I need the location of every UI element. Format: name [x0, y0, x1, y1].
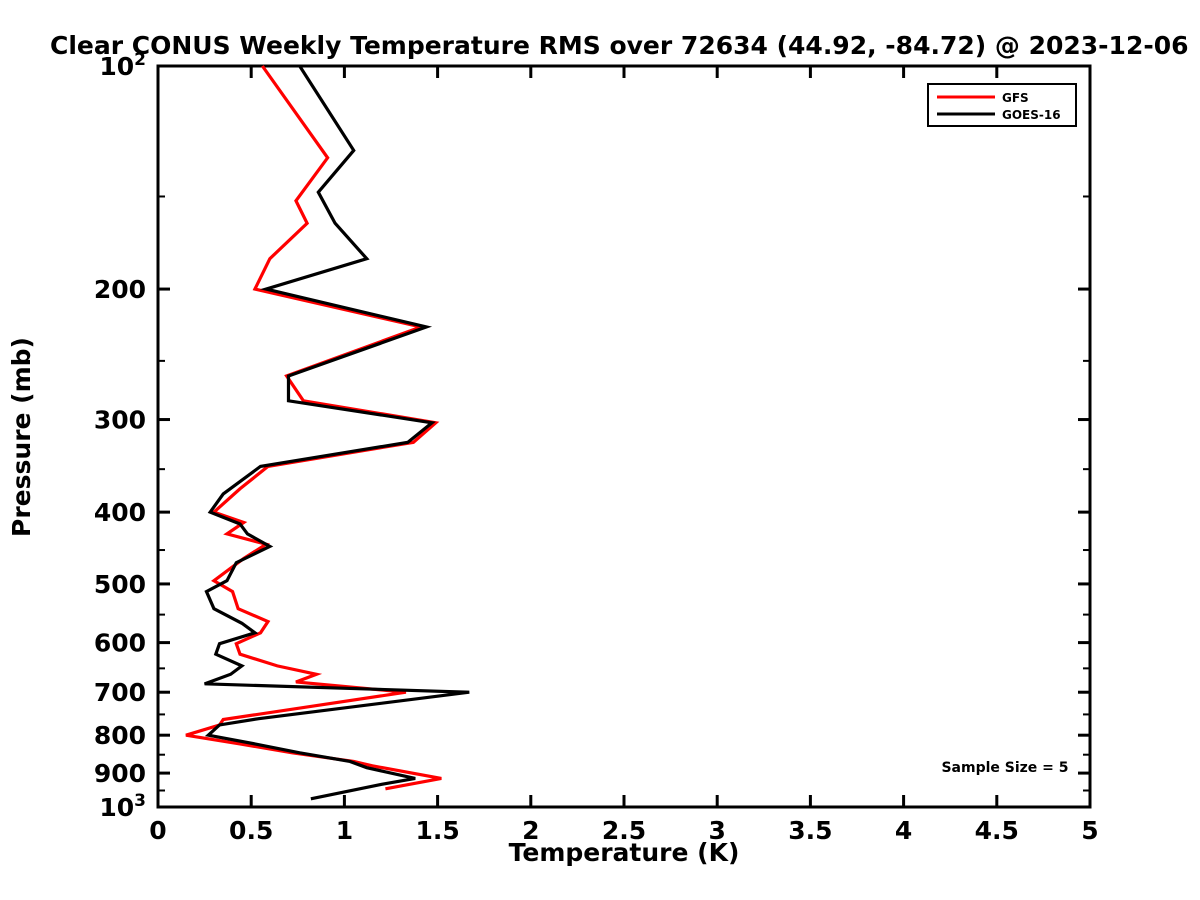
series-line-gfs	[186, 66, 441, 789]
data-series-group	[186, 66, 469, 799]
chart-title: Clear CONUS Weekly Temperature RMS over …	[50, 31, 1189, 60]
x-tick-label: 0	[149, 816, 166, 845]
y-tick-label: 500	[94, 570, 146, 599]
y-tick-label: 103	[99, 791, 146, 822]
chart-canvas: Clear CONUS Weekly Temperature RMS over …	[0, 0, 1200, 900]
y-tick-label: 300	[94, 406, 146, 435]
x-axis-ticks: 00.511.522.533.544.55	[149, 66, 1098, 845]
x-tick-label: 1	[336, 816, 353, 845]
chart-legend[interactable]: GFSGOES-16	[928, 84, 1076, 126]
y-tick-label: 400	[94, 498, 146, 527]
x-tick-label: 4	[895, 816, 912, 845]
sample-size-annotation: Sample Size = 5	[941, 760, 1068, 776]
y-tick-label: 200	[94, 275, 146, 304]
x-tick-label: 3.5	[788, 816, 832, 845]
y-tick-label: 800	[94, 721, 146, 750]
legend-label-gfs[interactable]: GFS	[1002, 91, 1029, 105]
x-tick-label: 4.5	[975, 816, 1019, 845]
x-tick-label: 1.5	[415, 816, 459, 845]
x-axis-label: Temperature (K)	[509, 838, 740, 867]
y-tick-label: 900	[94, 759, 146, 788]
y-axis-ticks: 102200300400500600700800900103	[94, 50, 1090, 822]
x-tick-label: 0.5	[229, 816, 273, 845]
chart-figure: Clear CONUS Weekly Temperature RMS over …	[0, 0, 1200, 900]
x-tick-label: 5	[1081, 816, 1098, 845]
y-axis-label: Pressure (mb)	[7, 337, 36, 537]
series-line-goes-16	[205, 66, 470, 799]
y-tick-label: 102	[99, 50, 146, 81]
y-tick-label: 700	[94, 678, 146, 707]
legend-label-goes-16[interactable]: GOES-16	[1002, 108, 1061, 122]
plot-frame	[158, 66, 1090, 807]
y-tick-label: 600	[94, 629, 146, 658]
